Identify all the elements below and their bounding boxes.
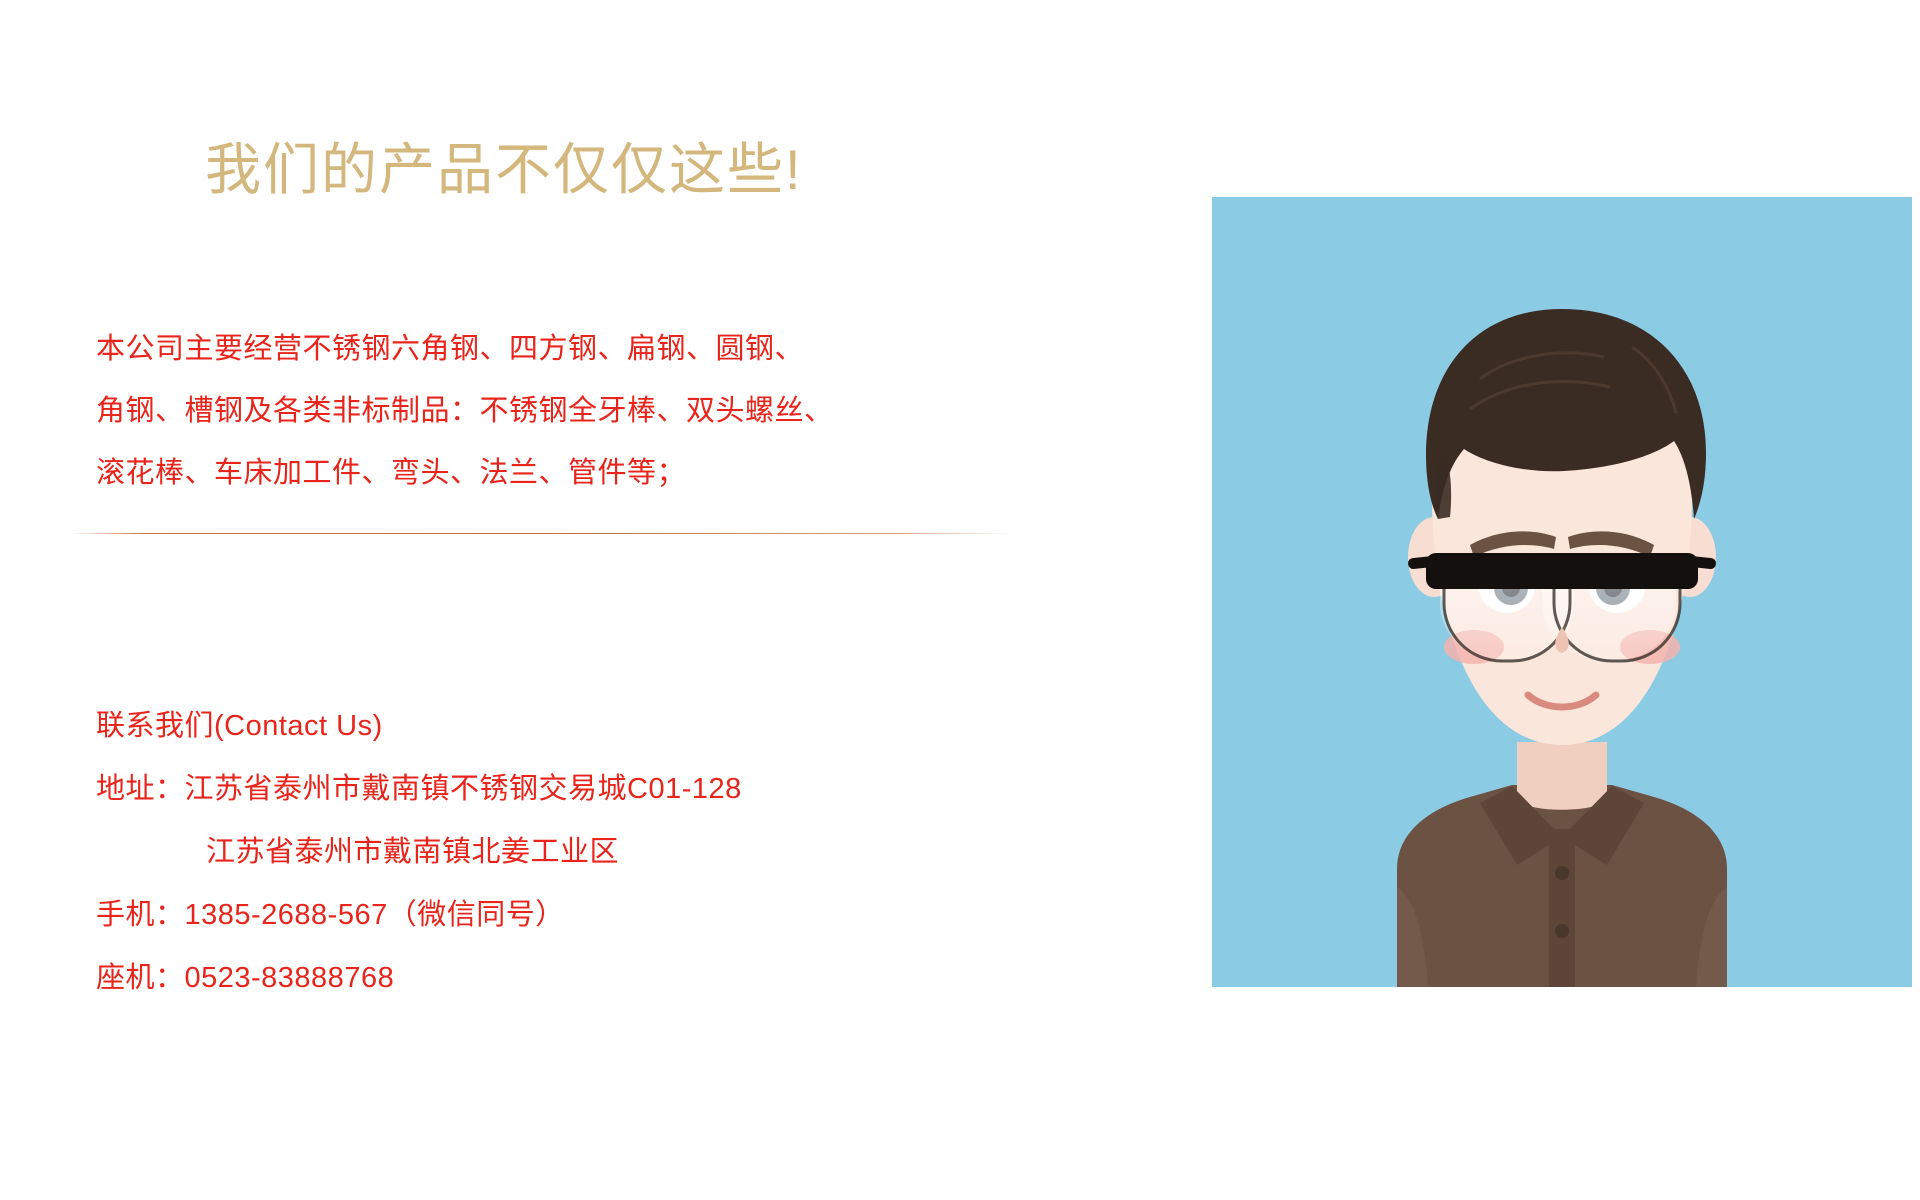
intro-line-3: 滚花棒、车床加工件、弯头、法兰、管件等； [96, 442, 1026, 504]
contact-landline: 座机：0523-83888768 [96, 947, 742, 1010]
contact-address-line-2: 江苏省泰州市戴南镇北姜工业区 [96, 821, 742, 884]
section-divider [70, 533, 1010, 534]
contact-mobile: 手机：1385-2688-567（微信同号） [96, 884, 742, 947]
avatar-illustration-svg [1212, 197, 1912, 987]
left-content-column: 我们的产品不仅仅这些! 本公司主要经营不锈钢六角钢、四方钢、扁钢、圆钢、 角钢、… [0, 0, 1080, 1200]
page-title: 我们的产品不仅仅这些! [205, 142, 803, 198]
intro-line-2: 角钢、槽钢及各类非标制品：不锈钢全牙棒、双头螺丝、 [96, 380, 1026, 442]
avatar-portrait [1212, 197, 1912, 987]
contact-page: 我们的产品不仅仅这些! 本公司主要经营不锈钢六角钢、四方钢、扁钢、圆钢、 角钢、… [0, 0, 1920, 1200]
contact-heading: 联系我们(Contact Us) [96, 695, 742, 758]
intro-line-1: 本公司主要经营不锈钢六角钢、四方钢、扁钢、圆钢、 [96, 318, 1026, 380]
contact-address-line-1: 地址：江苏省泰州市戴南镇不锈钢交易城C01-128 [96, 758, 742, 821]
contact-info-block: 联系我们(Contact Us) 地址：江苏省泰州市戴南镇不锈钢交易城C01-1… [96, 695, 742, 1010]
company-intro-paragraph: 本公司主要经营不锈钢六角钢、四方钢、扁钢、圆钢、 角钢、槽钢及各类非标制品：不锈… [96, 318, 1026, 504]
